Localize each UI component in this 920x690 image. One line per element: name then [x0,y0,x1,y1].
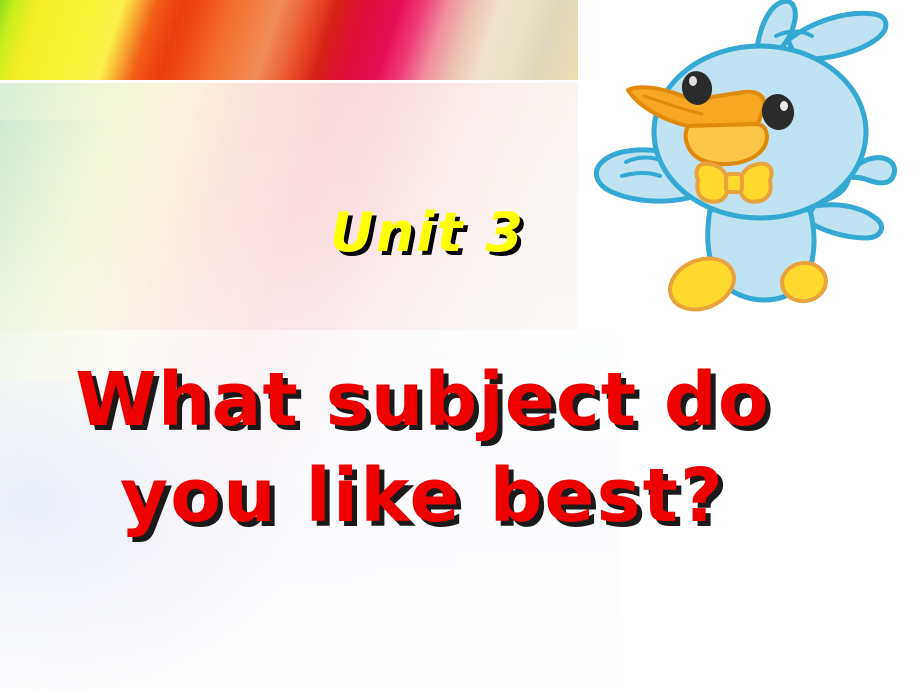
rainbow-stripes-vivid-band [0,0,578,80]
title-line-2: you like best? [0,448,845,544]
unit-label: Unit 3 [330,206,525,260]
page-title: What subject do you like best? [0,352,845,544]
duck-image-panel [578,0,920,330]
stripe-separator-line [0,80,578,83]
title-line-1: What subject do [0,352,845,448]
duck-mascot-icon [592,0,912,330]
slide-canvas: Unit 3 What subject do you like best? [0,0,920,690]
